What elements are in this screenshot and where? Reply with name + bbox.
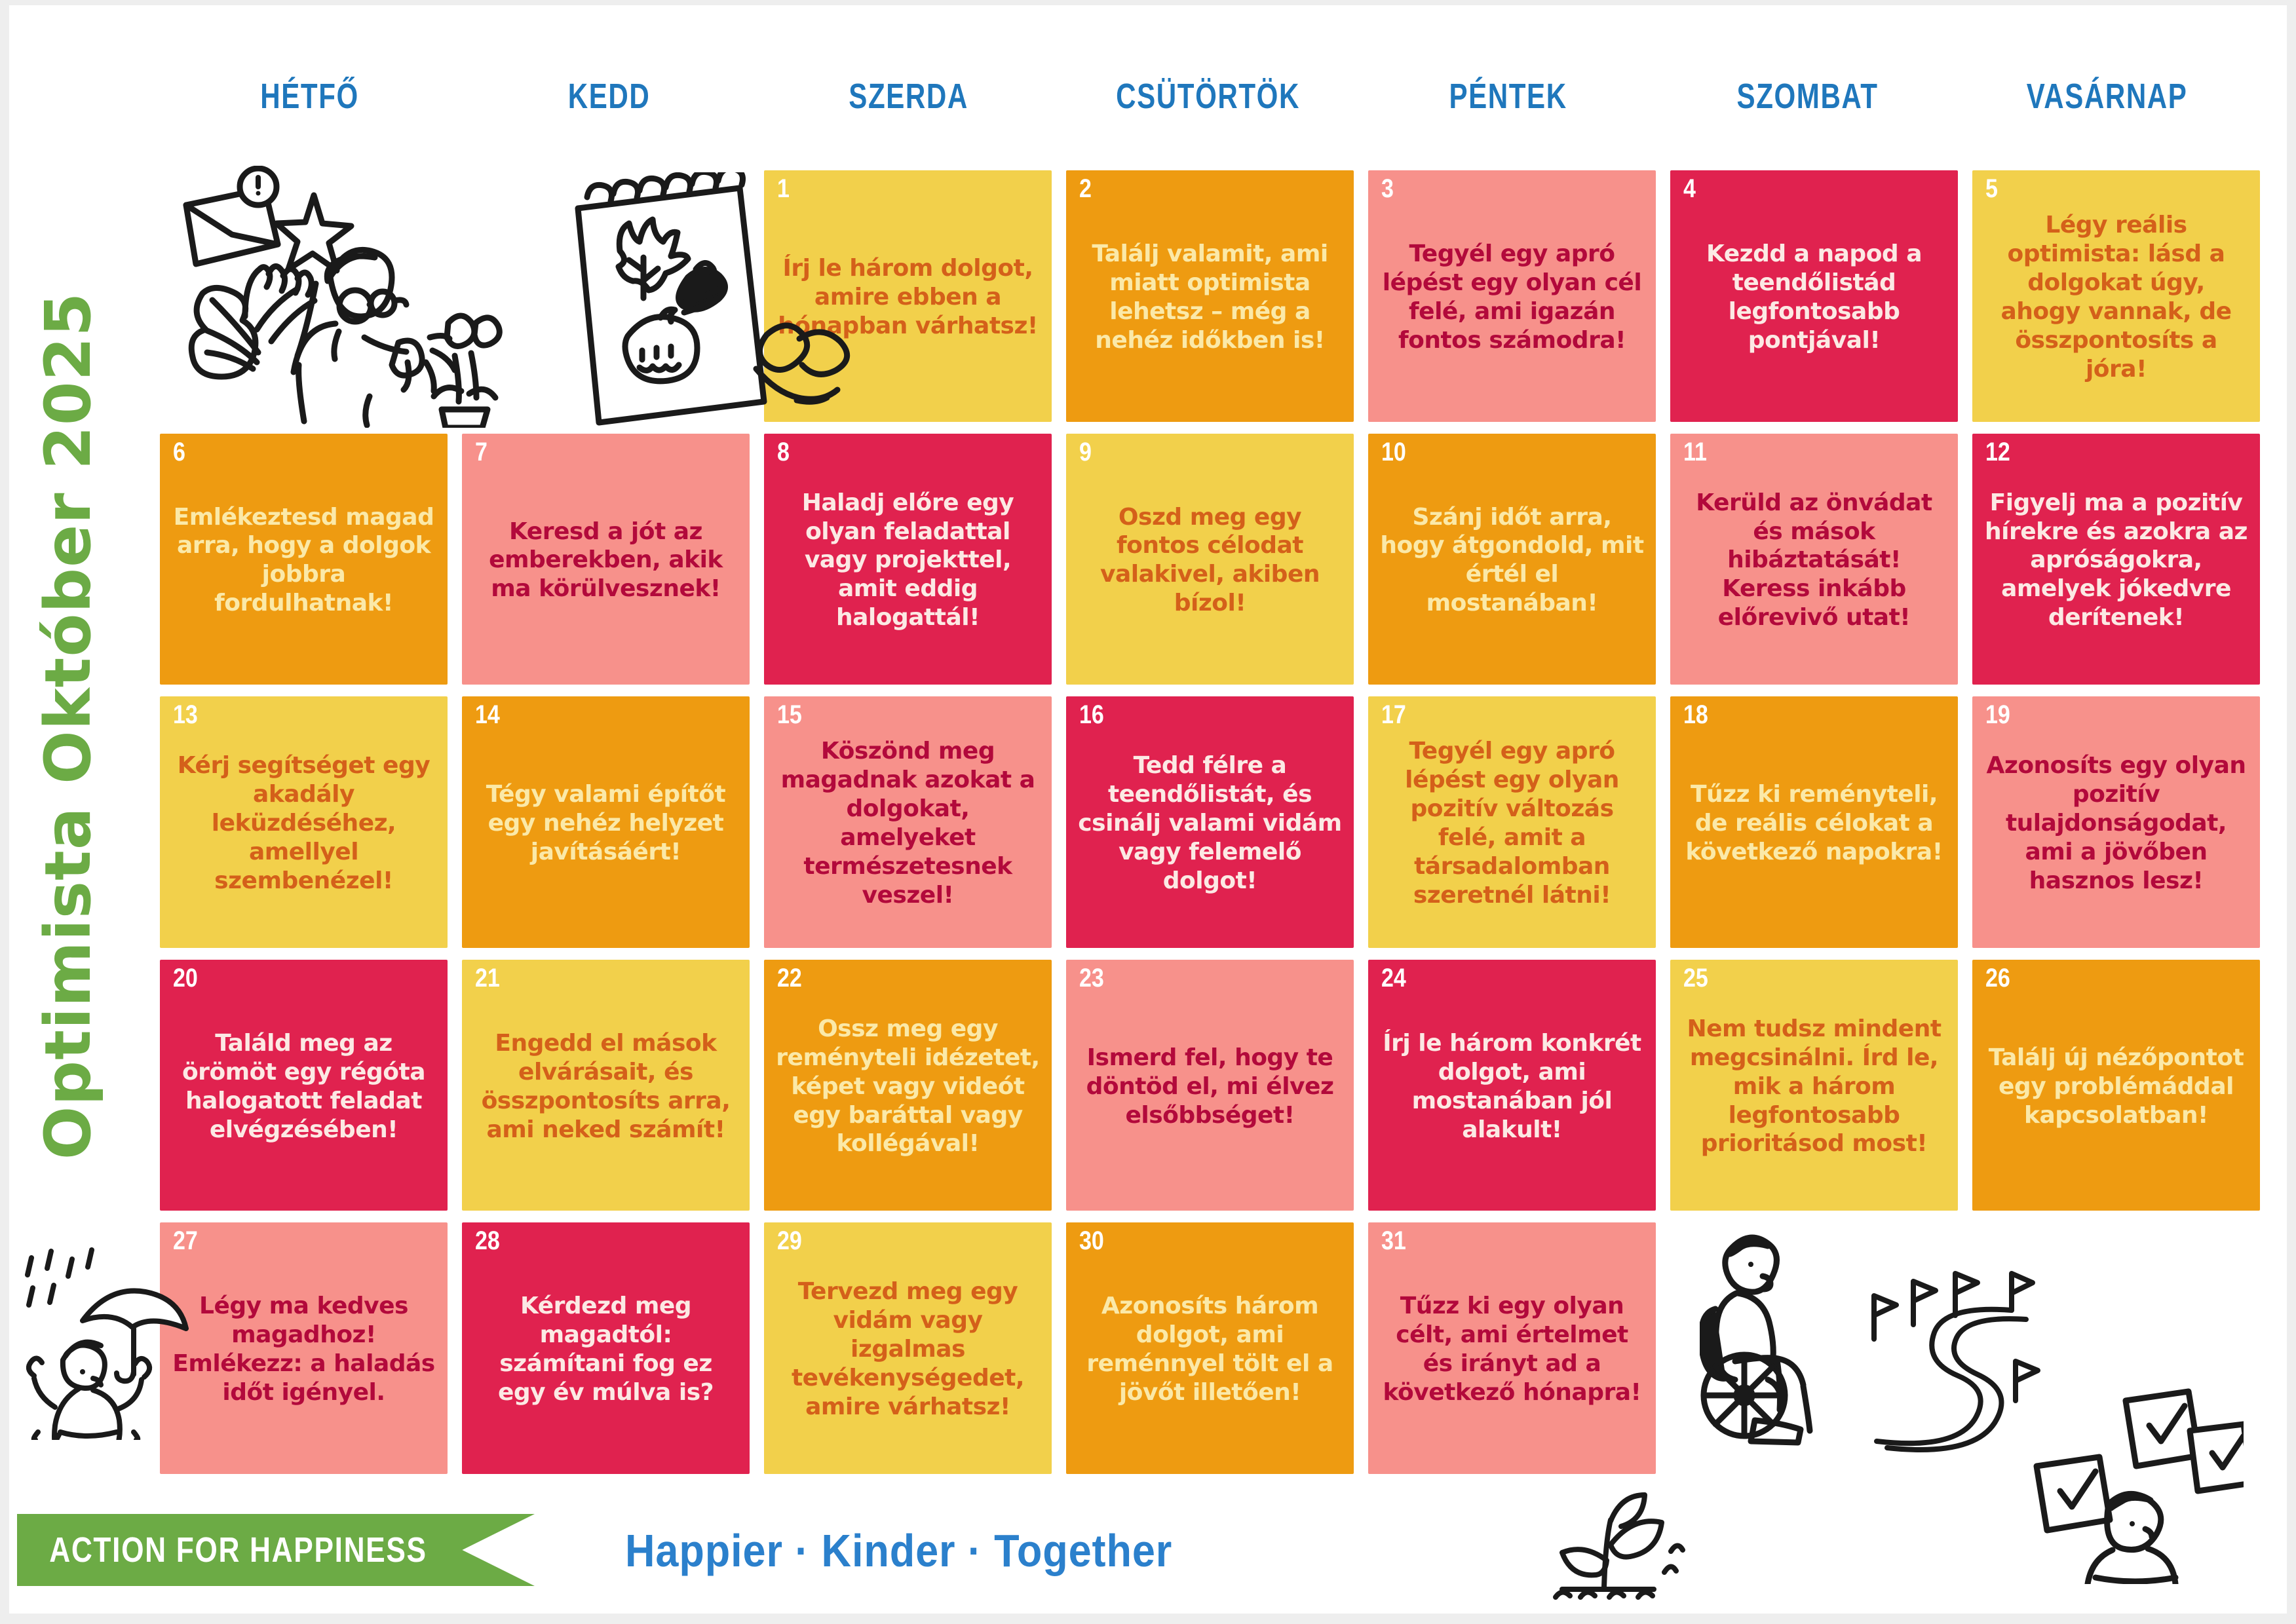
day-number: 20 <box>173 965 198 991</box>
day-message: Tűzz ki egy olyan célt, ami értelmet és … <box>1377 1292 1647 1407</box>
calendar-cell[interactable]: 13Kérj segítséget egy akadály leküzdéséh… <box>160 696 448 948</box>
calendar-cell[interactable]: 23Ismerd fel, hogy te döntöd el, mi élve… <box>1066 960 1354 1211</box>
wheelchair-person-illustration <box>1700 1230 1883 1446</box>
month-title-text: Optimista Október 2025 <box>31 292 105 1160</box>
day-number: 26 <box>1985 965 2010 991</box>
day-message: Szánj időt arra, hogy átgondold, mit ért… <box>1377 503 1647 618</box>
calendar-cell[interactable]: 10Szánj időt arra, hogy átgondold, mit é… <box>1368 434 1656 685</box>
day-header-sunday: VASÁRNAP <box>1990 76 2224 128</box>
day-number: 10 <box>1381 439 1406 465</box>
day-number: 6 <box>173 439 185 465</box>
calendar-cell[interactable]: 28Kérdezd meg magadtól: számítani fog ez… <box>462 1222 750 1474</box>
day-number: 29 <box>777 1228 802 1254</box>
day-number: 11 <box>1683 439 1707 465</box>
day-header-wednesday: SZERDA <box>792 76 1026 128</box>
day-message: Tervezd meg egy vidám vagy izgalmas tevé… <box>773 1277 1043 1422</box>
day-message: Tűzz ki reményteli, de reális célokat a … <box>1679 780 1949 867</box>
day-number: 30 <box>1079 1228 1104 1254</box>
day-message: Tegyél egy apró lépést egy olyan cél fel… <box>1377 240 1647 355</box>
day-message: Tégy valami építőt egy nehéz helyzet jav… <box>471 780 740 867</box>
day-number: 19 <box>1985 702 2010 728</box>
calendar-cell[interactable]: 18Tűzz ki reményteli, de reális célokat … <box>1670 696 1958 948</box>
calendar-cell[interactable]: 11Kerüld az önvádat és mások hibáztatásá… <box>1670 434 1958 685</box>
calendar-cell[interactable]: 9Oszd meg egy fontos célodat valakivel, … <box>1066 434 1354 685</box>
day-message: Kezdd a napod a teendőlistád legfontosab… <box>1679 240 1949 355</box>
day-message: Kerüld az önvádat és mások hibáztatását!… <box>1679 489 1949 633</box>
brand-banner: ACTION FOR HAPPINESS <box>17 1514 535 1586</box>
day-number: 2 <box>1079 176 1092 202</box>
calendar-cell[interactable]: 7Keresd a jót az emberekben, akik ma kör… <box>462 434 750 685</box>
calendar-cell[interactable]: 25Nem tudsz mindent megcsinálni. Írd le,… <box>1670 960 1958 1211</box>
day-number: 13 <box>173 702 198 728</box>
day-number: 12 <box>1985 439 2010 465</box>
day-message: Találd meg az örömöt egy régóta halogato… <box>169 1029 438 1144</box>
day-number: 8 <box>777 439 790 465</box>
calendar-cell[interactable]: 6Emlékeztesd magad arra, hogy a dolgok j… <box>160 434 448 685</box>
calendar-page: Optimista Október 2025 HÉTFŐ KEDD SZERDA… <box>9 5 2287 1614</box>
day-number: 9 <box>1079 439 1092 465</box>
calendar-cell[interactable]: 19Azonosíts egy olyan pozitív tulajdonsá… <box>1972 696 2260 948</box>
day-number: 25 <box>1683 965 1708 991</box>
calendar-cell[interactable]: 16Tedd félre a teendőlistát, és csinálj … <box>1066 696 1354 948</box>
day-message: Haladj előre egy olyan feladattal vagy p… <box>773 489 1043 633</box>
calendar-cell[interactable]: 2Találj valamit, ami miatt optimista leh… <box>1066 170 1354 422</box>
calendar-cell[interactable]: 5Légy reális optimista: lásd a dolgokat … <box>1972 170 2260 422</box>
day-number: 31 <box>1381 1228 1406 1254</box>
day-number: 17 <box>1381 702 1406 728</box>
day-message: Oszd meg egy fontos célodat valakivel, a… <box>1075 503 1345 618</box>
page-title: Optimista Október 2025 <box>9 5 127 1446</box>
day-message: Kérdezd meg magadtól: számítani fog ez e… <box>471 1292 740 1407</box>
calendar-cell[interactable]: 3Tegyél egy apró lépést egy olyan cél fe… <box>1368 170 1656 422</box>
calendar-cell[interactable]: 31Tűzz ki egy olyan célt, ami értelmet é… <box>1368 1222 1656 1474</box>
day-header-monday: HÉTFŐ <box>193 76 427 128</box>
day-header-row: HÉTFŐ KEDD SZERDA CSÜTÖRTÖK PÉNTEK SZOMB… <box>160 76 2257 128</box>
calendar-cell[interactable]: 14Tégy valami építőt egy nehéz helyzet j… <box>462 696 750 948</box>
day-message: Találj új nézőpontot egy problémáddal ka… <box>1981 1044 2251 1130</box>
day-number: 3 <box>1381 176 1394 202</box>
day-message: Azonosíts egy olyan pozitív tulajdonságo… <box>1981 751 2251 896</box>
day-number: 4 <box>1683 176 1696 202</box>
footer: ACTION FOR HAPPINESS Happier · Kinder · … <box>9 1514 2287 1593</box>
calendar-cell[interactable]: 22Ossz meg egy reményteli idézetet, képe… <box>764 960 1052 1211</box>
day-number: 5 <box>1985 176 1998 202</box>
day-message: Találj valamit, ami miatt optimista lehe… <box>1075 240 1345 355</box>
umbrella-person-illustration <box>22 1243 212 1440</box>
calendar-cell[interactable]: 12Figyelj ma a pozitív hírekre és azokra… <box>1972 434 2260 685</box>
day-message: Engedd el mások elvárásait, és összponto… <box>471 1029 740 1144</box>
day-number: 15 <box>777 702 802 728</box>
calendar-cell[interactable]: 26Találj új nézőpontot egy problémáddal … <box>1972 960 2260 1211</box>
day-number: 28 <box>475 1228 500 1254</box>
calendar-cell[interactable]: 24Írj le három konkrét dolgot, ami mosta… <box>1368 960 1656 1211</box>
day-number: 18 <box>1683 702 1708 728</box>
letter-person-illustration <box>173 166 592 428</box>
calendar-cell[interactable]: 8Haladj előre egy olyan feladattal vagy … <box>764 434 1052 685</box>
day-message: Nem tudsz mindent megcsinálni. Írd le, m… <box>1679 1015 1949 1159</box>
day-header-tuesday: KEDD <box>492 76 726 128</box>
calendar-cell[interactable]: 21Engedd el mások elvárásait, és összpon… <box>462 960 750 1211</box>
day-message: Figyelj ma a pozitív hírekre és azokra a… <box>1981 489 2251 633</box>
day-header-saturday: SZOMBAT <box>1691 76 1924 128</box>
calendar-cell[interactable]: 20Találd meg az örömöt egy régóta haloga… <box>160 960 448 1211</box>
day-message: Tedd félre a teendőlistát, és csinálj va… <box>1075 751 1345 896</box>
day-header-friday: PÉNTEK <box>1391 76 1625 128</box>
day-message: Írj le három konkrét dolgot, ami mostaná… <box>1377 1029 1647 1144</box>
day-number: 23 <box>1079 965 1104 991</box>
calendar-cell[interactable]: 30Azonosíts három dolgot, ami reménnyel … <box>1066 1222 1354 1474</box>
day-message: Ossz meg egy reményteli idézetet, képet … <box>773 1015 1043 1159</box>
day-message: Azonosíts három dolgot, ami reménnyel tö… <box>1075 1292 1345 1407</box>
calendar-cell[interactable]: 17Tegyél egy apró lépést egy olyan pozit… <box>1368 696 1656 948</box>
day-message: Keresd a jót az emberekben, akik ma körü… <box>471 518 740 604</box>
calendar-cell[interactable]: 29Tervezd meg egy vidám vagy izgalmas te… <box>764 1222 1052 1474</box>
day-message: Tegyél egy apró lépést egy olyan pozitív… <box>1377 737 1647 909</box>
day-number: 14 <box>475 702 500 728</box>
day-message: Ismerd fel, hogy te döntöd el, mi élvez … <box>1075 1044 1345 1130</box>
notepad-drawing-illustration <box>560 172 868 428</box>
day-number: 7 <box>475 439 488 465</box>
day-message: Emlékeztesd magad arra, hogy a dolgok jo… <box>169 503 438 618</box>
day-message: Kérj segítséget egy akadály leküzdéséhez… <box>169 751 438 896</box>
day-message: Köszönd meg magadnak azokat a dolgokat, … <box>773 737 1043 909</box>
day-number: 16 <box>1079 702 1104 728</box>
day-number: 24 <box>1381 965 1406 991</box>
day-header-thursday: CSÜTÖRTÖK <box>1092 76 1326 128</box>
day-message: Légy reális optimista: lásd a dolgokat ú… <box>1981 211 2251 383</box>
day-number: 21 <box>475 965 500 991</box>
calendar-cell[interactable]: 15Köszönd meg magadnak azokat a dolgokat… <box>764 696 1052 948</box>
tagline: Happier · Kinder · Together <box>625 1524 1172 1577</box>
day-number: 22 <box>777 965 802 991</box>
brand-name: ACTION FOR HAPPINESS <box>17 1530 427 1570</box>
calendar-cell[interactable]: 4Kezdd a napod a teendőlistád legfontosa… <box>1670 170 1958 422</box>
